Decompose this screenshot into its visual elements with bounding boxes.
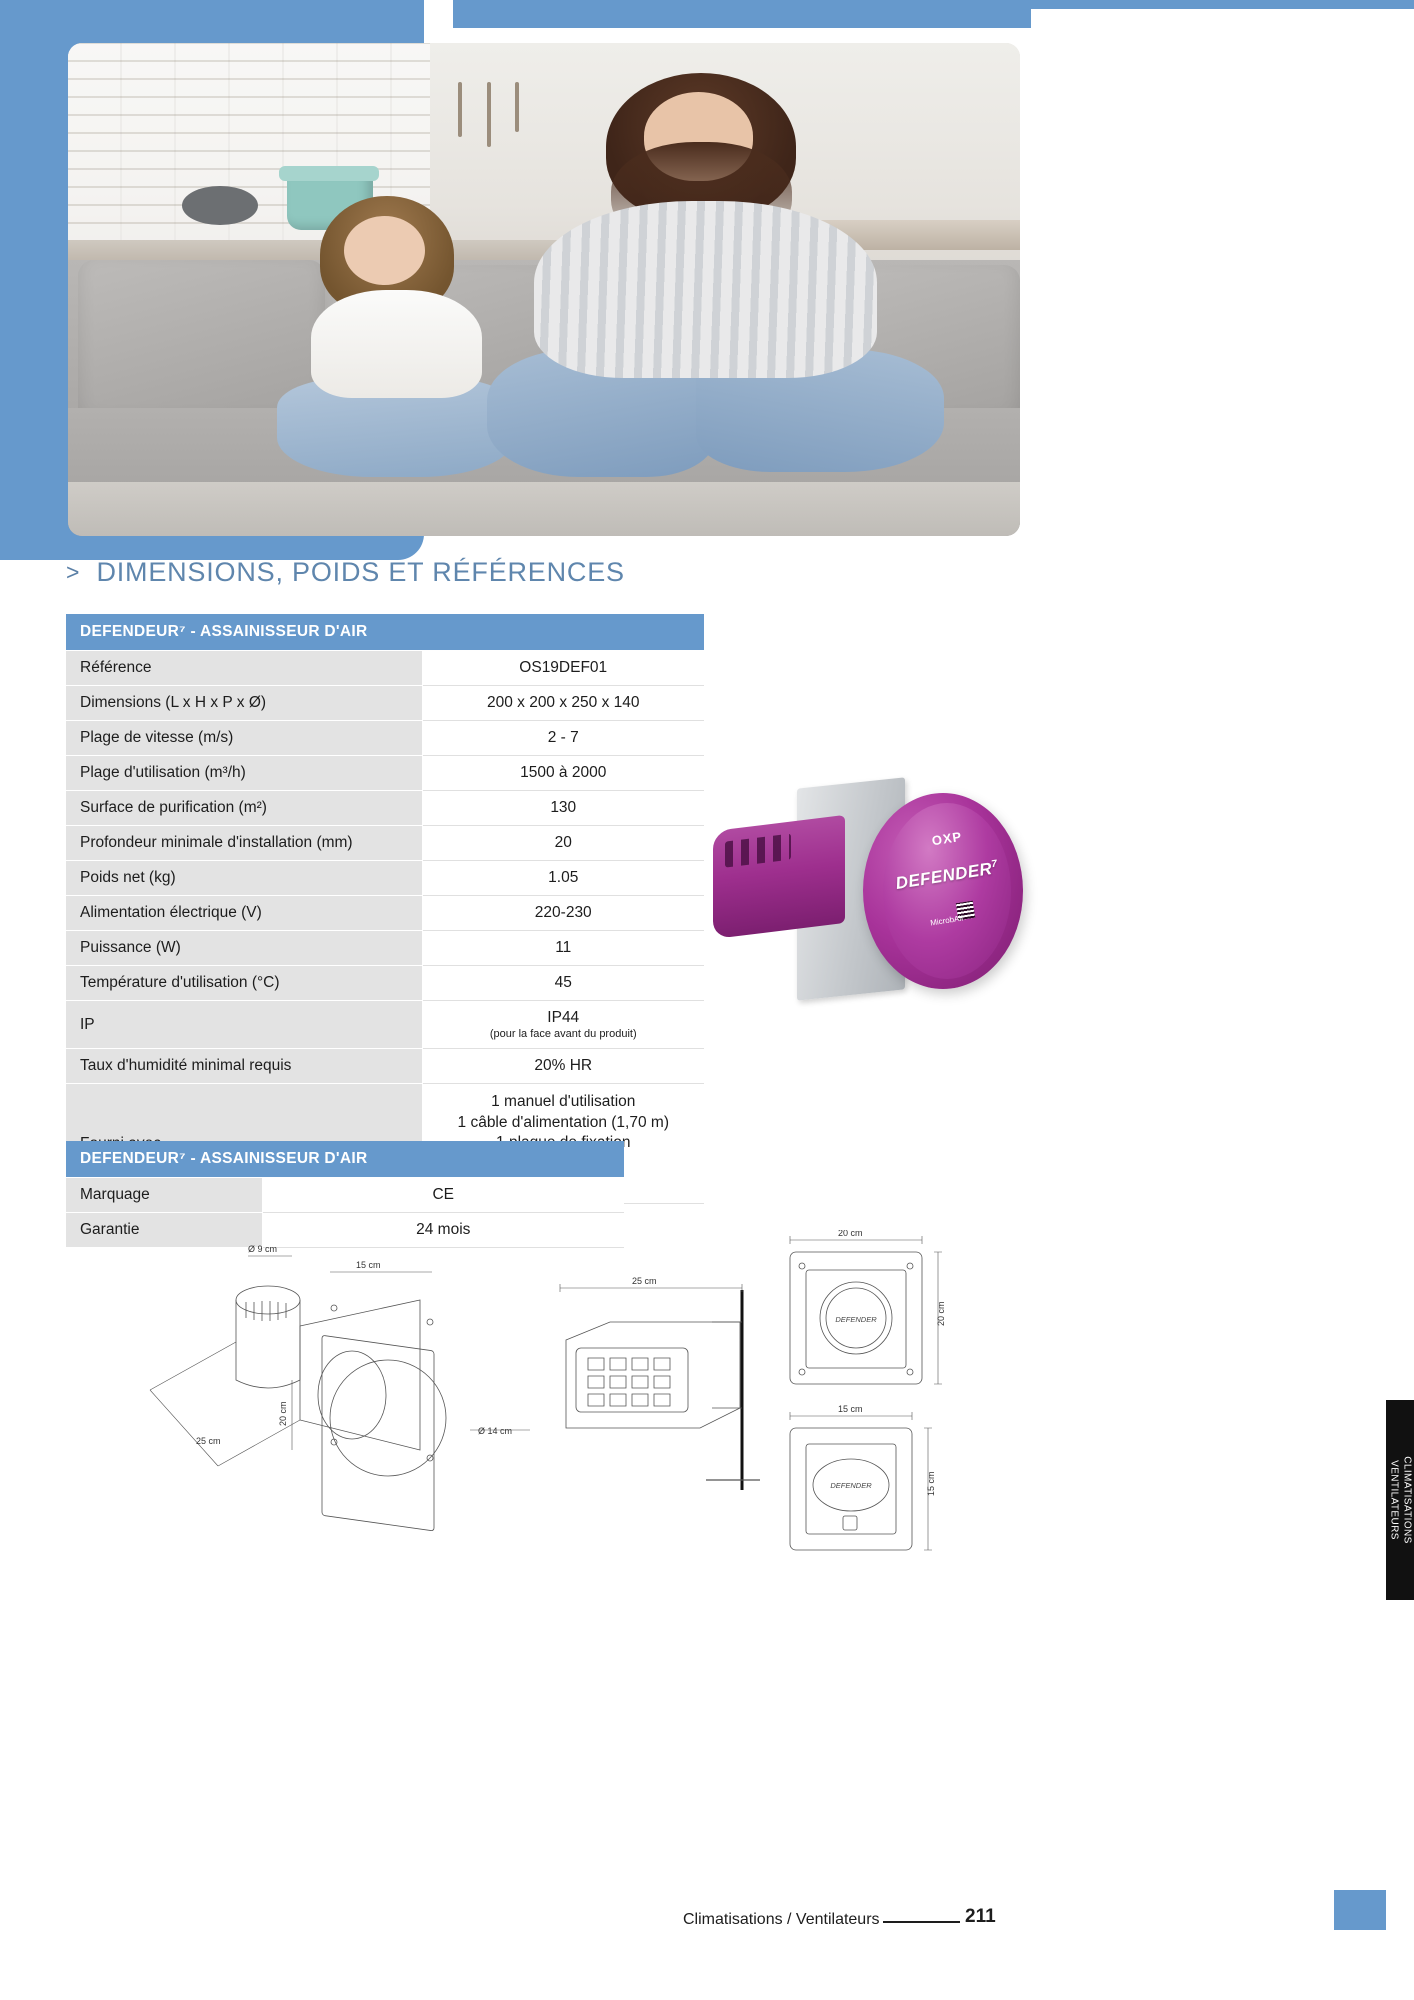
spec-label: Plage de vitesse (m/s) — [66, 721, 422, 756]
page-number: 211 — [965, 1906, 996, 1928]
spec-label: Dimensions (L x H x P x Ø) — [66, 686, 422, 721]
product-model-sup: 7 — [991, 859, 999, 871]
front-small-height: 15 cm — [926, 1471, 936, 1496]
hero-lifestyle-photo — [68, 43, 1020, 536]
drawing-side — [560, 1284, 760, 1490]
spec-label: Surface de purification (m²) — [66, 791, 422, 826]
spec-value: 20% HR — [422, 1049, 704, 1084]
product-model-label: DEFENDER7 — [882, 856, 1012, 896]
spec-label: Température d'utilisation (°C) — [66, 966, 422, 1001]
table-row: IPIP44(pour la face avant du produit) — [66, 1001, 704, 1049]
technical-drawings: Ø 9 cm15 cm20 cm25 cmØ 14 cm25 cm20 cm20… — [0, 1230, 1414, 1930]
table-row: Profondeur minimale d'installation (mm)2… — [66, 826, 704, 861]
spec-label: Taux d'humidité minimal requis — [66, 1049, 422, 1084]
photo-utensil-1 — [458, 82, 462, 136]
front-large-width: 20 cm — [838, 1230, 863, 1238]
blue-top-bar-right — [453, 0, 1031, 28]
photo-pot-lid — [279, 166, 379, 181]
blue-right-edge — [1031, 0, 1414, 9]
product-brand-label: OXP — [883, 821, 1012, 856]
photo-utensil-2 — [487, 82, 491, 146]
side-tab-text: CLIMATISATIONS VENTILATEURS — [1388, 1456, 1413, 1543]
footer-divider — [883, 1921, 960, 1923]
spec-label: IP — [66, 1001, 422, 1049]
iso-diameter-top: Ø 9 cm — [248, 1244, 277, 1254]
side-tab: CLIMATISATIONS VENTILATEURS — [1386, 1400, 1414, 1600]
spec-label: Alimentation électrique (V) — [66, 896, 422, 931]
side-tab-line-2: VENTILATEURS — [1389, 1460, 1400, 1540]
table-row: RéférenceOS19DEF01 — [66, 651, 704, 686]
product-vent-slots — [725, 834, 791, 868]
supplied-item: 1 manuel d'utilisation — [429, 1092, 699, 1113]
iso-depth: 25 cm — [196, 1436, 221, 1446]
product-model-text: DEFENDER — [894, 859, 993, 893]
table-row: Taux d'humidité minimal requis20% HR — [66, 1049, 704, 1084]
photo-floor — [68, 482, 1020, 536]
photo-woman-top — [534, 201, 877, 378]
spec-label: Plage d'utilisation (m³/h) — [66, 756, 422, 791]
catalog-page: > DIMENSIONS, POIDS ET RÉFÉRENCES DEFEND… — [0, 0, 1414, 2000]
chevron-right-icon: > — [66, 559, 79, 586]
spec-value: 45 — [422, 966, 704, 1001]
drawing-front-large — [790, 1236, 942, 1384]
iso-width: 15 cm — [356, 1260, 381, 1270]
table-row: Surface de purification (m²)130 — [66, 791, 704, 826]
spec-label: Puissance (W) — [66, 931, 422, 966]
spec-label: Profondeur minimale d'installation (mm) — [66, 826, 422, 861]
side-length: 25 cm — [632, 1276, 657, 1286]
spec-value: 1500 à 2000 — [422, 756, 704, 791]
spec-value: IP44(pour la face avant du produit) — [422, 1001, 704, 1049]
product-front-face: OXP DEFENDER7 MicrobAir — [883, 803, 1011, 979]
specifications-table: DEFENDEUR⁷ - ASSAINISSEUR D'AIRRéférence… — [66, 614, 704, 1204]
table-row: Alimentation électrique (V)220-230 — [66, 896, 704, 931]
spec-value: 200 x 200 x 250 x 140 — [422, 686, 704, 721]
drawing-isometric — [150, 1256, 530, 1531]
blue-corner-tab — [1334, 1890, 1386, 1930]
table-header-label: DEFENDEUR⁷ - ASSAINISSEUR D'AIR — [66, 614, 704, 651]
table-row: Poids net (kg)1.05 — [66, 861, 704, 896]
table-header-row: DEFENDEUR⁷ - ASSAINISSEUR D'AIR — [66, 1141, 624, 1178]
spec-label: Référence — [66, 651, 422, 686]
table-row: MarquageCE — [66, 1178, 624, 1213]
spec-value: OS19DEF01 — [422, 651, 704, 686]
spec-note: (pour la face avant du produit) — [429, 1028, 699, 1040]
section-heading: > DIMENSIONS, POIDS ET RÉFÉRENCES — [66, 557, 625, 588]
front-large-model-label: DEFENDER — [835, 1315, 877, 1324]
photo-child-head — [344, 216, 425, 285]
table-header-row: DEFENDEUR⁷ - ASSAINISSEUR D'AIR — [66, 614, 704, 651]
photo-utensil-3 — [515, 82, 519, 131]
page-title: DIMENSIONS, POIDS ET RÉFÉRENCES — [96, 557, 624, 588]
footer-category: Climatisations / Ventilateurs — [683, 1911, 880, 1929]
spec-value: 11 — [422, 931, 704, 966]
table-header-label: DEFENDEUR⁷ - ASSAINISSEUR D'AIR — [66, 1141, 624, 1178]
product-sublabel: MicrobAir — [883, 906, 1011, 935]
front-small-model-label: DEFENDER — [830, 1481, 872, 1490]
side-tab-line-1: CLIMATISATIONS — [1402, 1456, 1413, 1543]
table-row: Plage de vitesse (m/s)2 - 7 — [66, 721, 704, 756]
spec-value: 2 - 7 — [422, 721, 704, 756]
spec-label: Poids net (kg) — [66, 861, 422, 896]
table-row: Dimensions (L x H x P x Ø)200 x 200 x 25… — [66, 686, 704, 721]
front-small-width: 15 cm — [838, 1404, 863, 1414]
spec-value: 1.05 — [422, 861, 704, 896]
spec-label: Marquage — [66, 1178, 262, 1213]
table-row: Température d'utilisation (°C)45 — [66, 966, 704, 1001]
spec-value: 20 — [422, 826, 704, 861]
drawings-svg: Ø 9 cm15 cm20 cm25 cmØ 14 cm25 cm20 cm20… — [0, 1230, 1414, 1930]
supplied-item: 1 câble d'alimentation (1,70 m) — [429, 1113, 699, 1134]
photo-child-body — [311, 290, 482, 398]
iso-diameter-front: Ø 14 cm — [478, 1426, 512, 1436]
product-duct — [713, 815, 845, 939]
spec-value: CE — [262, 1178, 624, 1213]
table-row: Plage d'utilisation (m³/h)1500 à 2000 — [66, 756, 704, 791]
spec-value: 220-230 — [422, 896, 704, 931]
spec-value: 130 — [422, 791, 704, 826]
front-large-height: 20 cm — [936, 1301, 946, 1326]
product-photo: OXP DEFENDER7 MicrobAir — [705, 765, 1025, 1015]
table-row: Puissance (W)11 — [66, 931, 704, 966]
iso-height: 20 cm — [278, 1401, 288, 1426]
